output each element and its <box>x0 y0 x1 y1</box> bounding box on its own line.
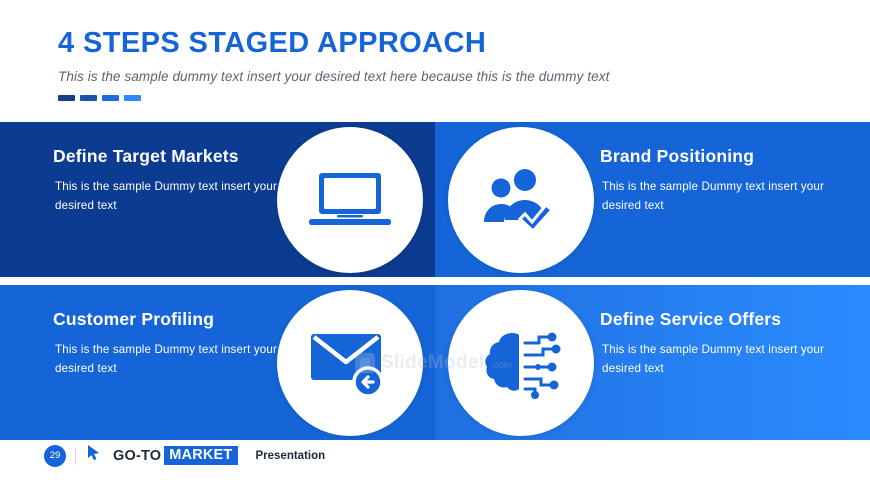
step-1-description: This is the sample Dummy text insert you… <box>53 178 288 216</box>
page-subtitle: This is the sample dummy text insert you… <box>58 69 848 84</box>
step-1-icon-circle[interactable] <box>277 127 423 273</box>
dash-4 <box>124 95 141 101</box>
slide-footer: 29 GO-TO MARKET Presentation <box>44 444 325 467</box>
brand-go-text: GO-TO <box>113 448 161 464</box>
dash-1 <box>58 95 75 101</box>
step-2-text: Brand Positioning This is the sample Dum… <box>600 144 835 216</box>
step-3-title: Customer Profiling <box>53 307 288 331</box>
step-2-description: This is the sample Dummy text insert you… <box>600 178 835 216</box>
slide-header: 4 STEPS STAGED APPROACH This is the samp… <box>58 28 848 84</box>
cursor-icon <box>85 444 103 467</box>
step-row-bottom: Customer Profiling This is the sample Du… <box>0 285 870 440</box>
step-3-text: Customer Profiling This is the sample Du… <box>53 307 288 379</box>
step-3-icon-circle[interactable] <box>277 290 423 436</box>
decorative-dashes <box>58 95 141 101</box>
dash-2 <box>80 95 97 101</box>
footer-divider <box>75 447 76 465</box>
brain-circuit-icon <box>479 327 563 399</box>
page-number-badge: 29 <box>44 445 66 467</box>
step-4-description: This is the sample Dummy text insert you… <box>600 341 835 379</box>
user-check-group-icon <box>481 166 561 234</box>
email-arrow-icon <box>307 328 393 398</box>
step-4-text: Define Service Offers This is the sample… <box>600 307 835 379</box>
dash-3 <box>102 95 119 101</box>
brand-market-text: MARKET <box>164 446 237 465</box>
step-4-title: Define Service Offers <box>600 307 835 331</box>
step-1-text: Define Target Markets This is the sample… <box>53 144 288 216</box>
slide: 4 STEPS STAGED APPROACH This is the samp… <box>0 0 870 489</box>
laptop-icon <box>309 169 391 231</box>
step-1-title: Define Target Markets <box>53 144 288 168</box>
step-3-description: This is the sample Dummy text insert you… <box>53 341 288 379</box>
brand-logo: GO-TO MARKET <box>113 446 238 465</box>
step-row-top: Define Target Markets This is the sample… <box>0 122 870 277</box>
footer-label: Presentation <box>256 450 326 462</box>
step-4-icon-circle[interactable] <box>448 290 594 436</box>
step-2-title: Brand Positioning <box>600 144 835 168</box>
step-2-icon-circle[interactable] <box>448 127 594 273</box>
page-title: 4 STEPS STAGED APPROACH <box>58 28 848 60</box>
